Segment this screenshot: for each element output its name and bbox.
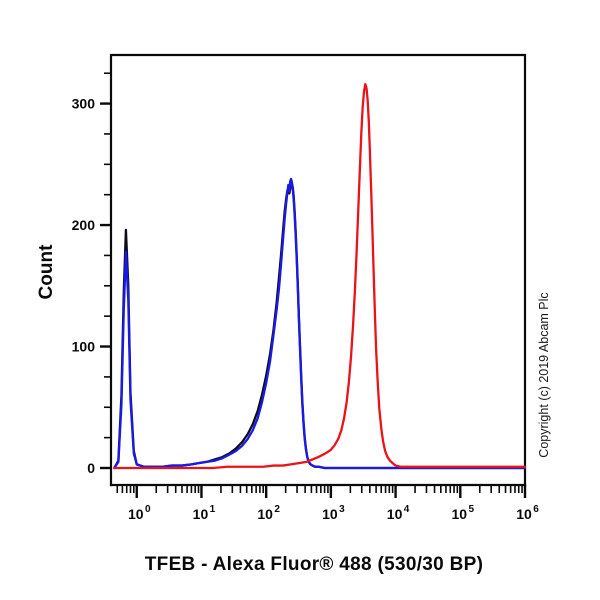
svg-text:10: 10	[128, 506, 144, 522]
y-tick-label: 0	[87, 460, 95, 476]
svg-text:10: 10	[516, 506, 532, 522]
svg-text:10: 10	[322, 506, 338, 522]
svg-text:1: 1	[210, 504, 216, 515]
svg-text:10: 10	[193, 506, 209, 522]
copyright-notice: Copyright (c) 2019 Abcam Plc	[537, 292, 551, 457]
svg-text:6: 6	[533, 504, 539, 515]
svg-text:2: 2	[274, 504, 280, 515]
x-axis-title: TFEB - Alexa Fluor® 488 (530/30 BP)	[145, 554, 483, 575]
flow-cytometry-histogram: 0100200300 100101102103104105106 Count T…	[0, 0, 600, 600]
svg-text:5: 5	[469, 504, 475, 515]
y-tick-label: 100	[72, 339, 96, 355]
svg-text:10: 10	[452, 506, 468, 522]
y-tick-label: 200	[72, 217, 96, 233]
y-tick-label: 300	[72, 96, 96, 112]
svg-text:10: 10	[387, 506, 403, 522]
figure-background	[0, 0, 600, 600]
y-axis-title: Count	[36, 244, 57, 300]
svg-text:0: 0	[145, 504, 151, 515]
svg-text:4: 4	[404, 504, 410, 515]
svg-text:3: 3	[339, 504, 345, 515]
svg-text:10: 10	[257, 506, 273, 522]
